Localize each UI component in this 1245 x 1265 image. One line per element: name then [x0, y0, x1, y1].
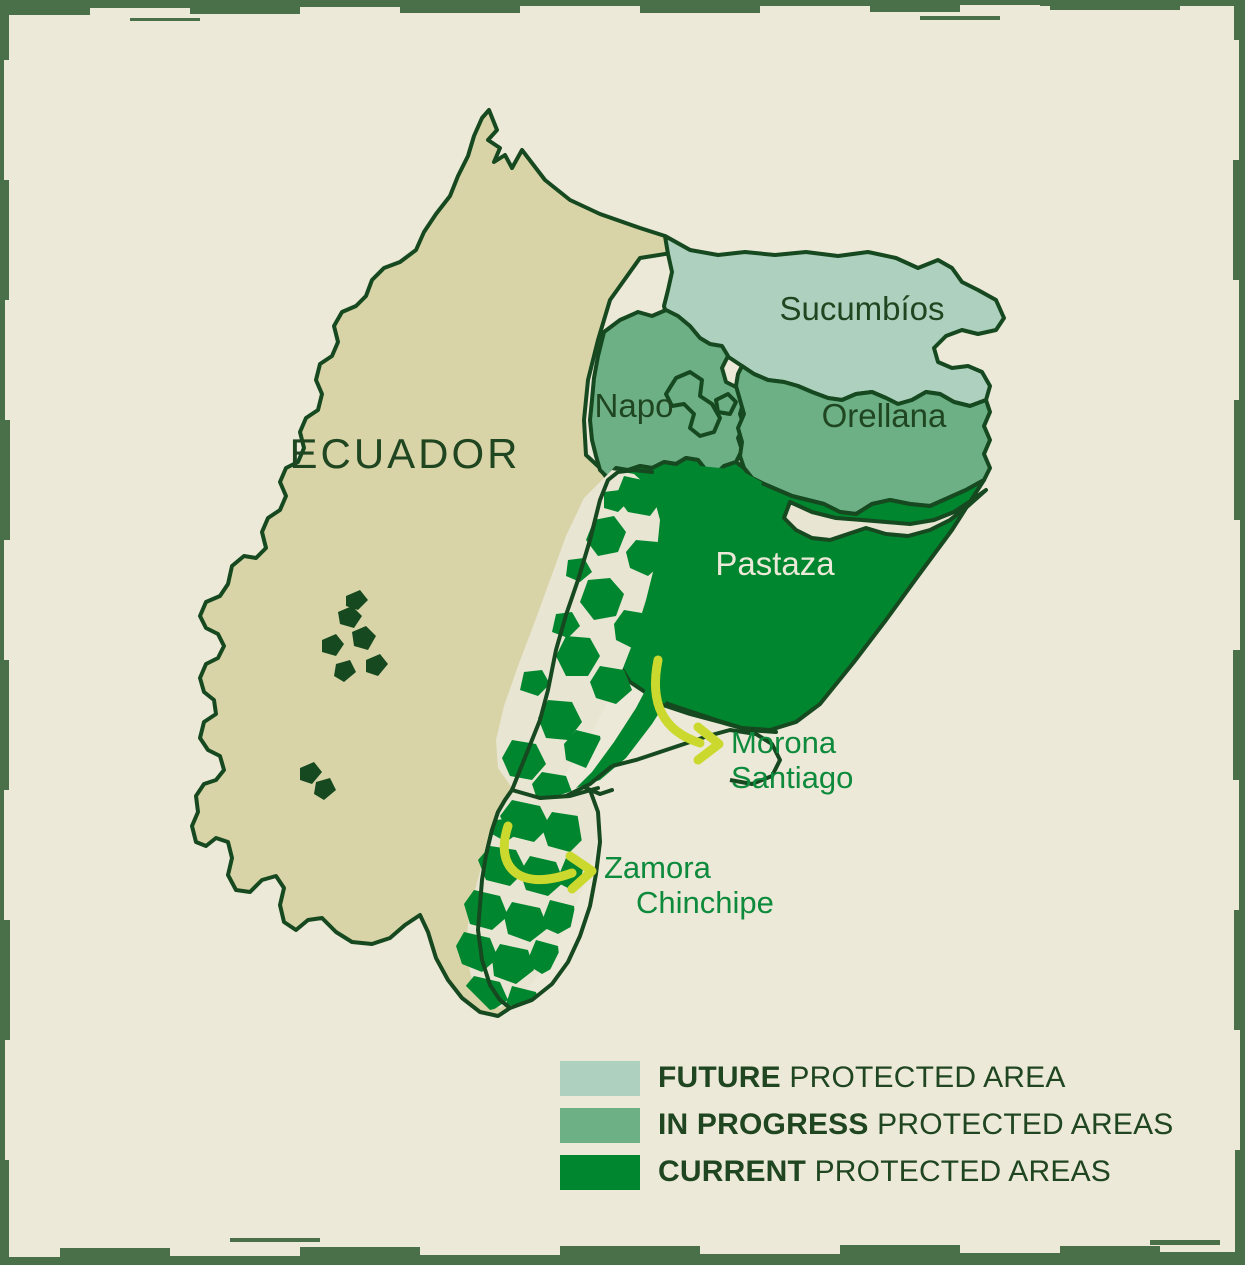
- legend-item-in-progress[interactable]: IN PROGRESS PROTECTED AREAS: [560, 1102, 1200, 1148]
- legend-lead-future: FUTURE: [658, 1061, 781, 1094]
- legend-lead-in-progress: IN PROGRESS: [658, 1108, 869, 1141]
- legend-label-future: FUTURE PROTECTED AREA: [658, 1061, 1066, 1095]
- callout-labels: Morona Santiago Zamora Chinchipe: [604, 725, 853, 920]
- legend-rest-future: PROTECTED AREA: [781, 1061, 1066, 1094]
- legend: FUTURE PROTECTED AREA IN PROGRESS PROTEC…: [560, 1055, 1200, 1196]
- label-pastaza: Pastaza: [715, 545, 835, 582]
- legend-rest-in-progress: PROTECTED AREAS: [869, 1108, 1174, 1141]
- legend-rest-current: PROTECTED AREAS: [806, 1155, 1111, 1188]
- callout-zamora-chinchipe: Zamora Chinchipe: [604, 850, 774, 920]
- callout-zamora-line-2: Chinchipe: [636, 885, 774, 920]
- legend-lead-current: CURRENT: [658, 1155, 806, 1188]
- legend-item-future[interactable]: FUTURE PROTECTED AREA: [560, 1055, 1200, 1101]
- legend-swatch-in-progress: [560, 1108, 640, 1143]
- callout-zamora-line-1: Zamora: [604, 850, 712, 885]
- callout-morona-line-2: Santiago: [731, 760, 853, 795]
- legend-label-current: CURRENT PROTECTED AREAS: [658, 1155, 1111, 1189]
- label-ecuador: ECUADOR: [289, 430, 520, 477]
- callout-morona-santiago: Morona Santiago: [731, 725, 853, 795]
- label-napo: Napo: [595, 387, 674, 424]
- callout-morona-line-1: Morona: [731, 725, 837, 760]
- frame-edge-right: [1233, 0, 1245, 1265]
- legend-swatch-future: [560, 1061, 640, 1096]
- legend-swatch-current: [560, 1155, 640, 1190]
- legend-item-current[interactable]: CURRENT PROTECTED AREAS: [560, 1149, 1200, 1195]
- frame-edge-left: [0, 0, 10, 1265]
- label-sucumbios: Sucumbíos: [779, 290, 944, 327]
- protected-areas-map-infographic: ECUADOR Sucumbíos Napo Orellana Pastaza …: [0, 0, 1245, 1265]
- label-orellana: Orellana: [822, 397, 947, 434]
- legend-label-in-progress: IN PROGRESS PROTECTED AREAS: [658, 1108, 1174, 1142]
